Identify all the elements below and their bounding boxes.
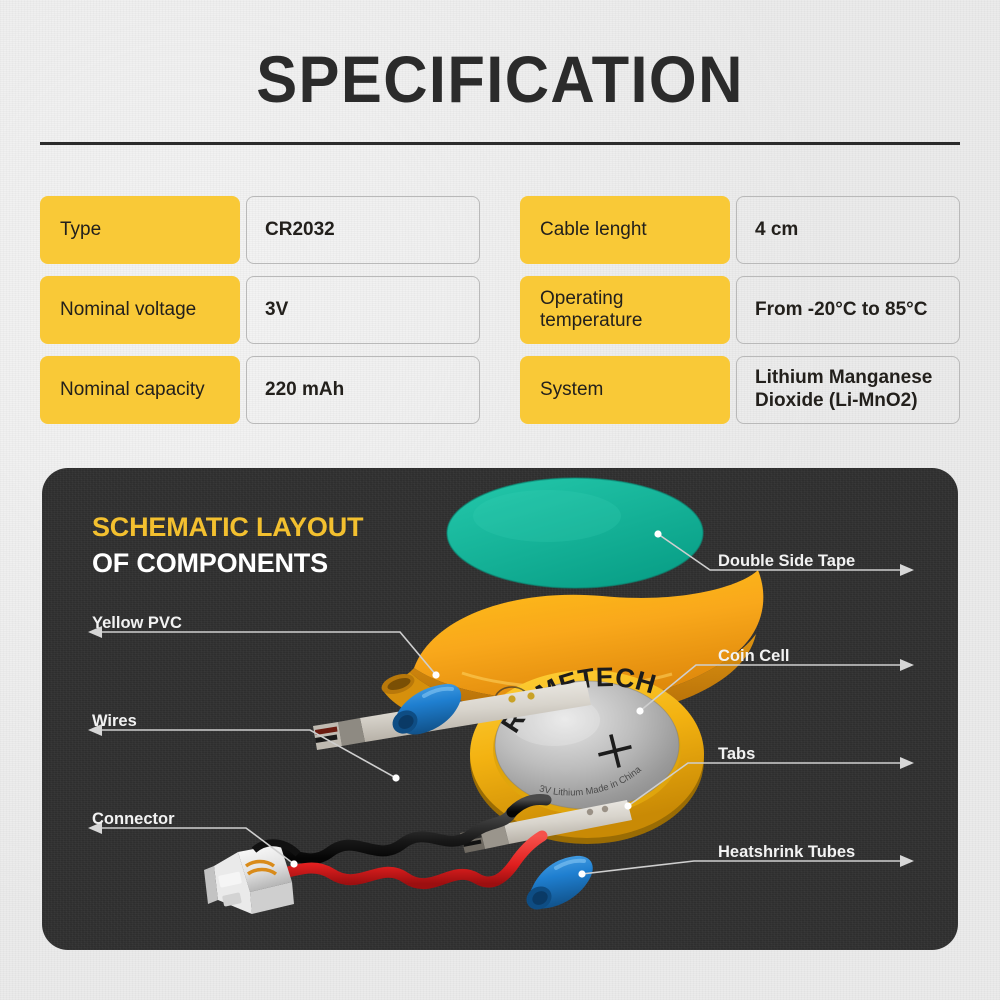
spec-label: Nominal capacity <box>40 356 240 424</box>
page-title: SPECIFICATION <box>35 46 965 112</box>
spec-label: Nominal voltage <box>40 276 240 344</box>
spec-value: 4 cm <box>736 196 960 264</box>
callout-label-connector: Connector <box>92 810 175 829</box>
spec-column-left: Type CR2032 Nominal voltage 3V Nominal c… <box>40 196 480 424</box>
heatshrink-tube-lower-part <box>522 856 592 914</box>
callout-label-double-side-tape: Double Side Tape <box>718 552 855 571</box>
spec-label: Cable lenght <box>520 196 730 264</box>
spec-row: System Lithium Manganese Dioxide (Li-MnO… <box>520 356 960 424</box>
title-divider <box>40 142 960 145</box>
spec-label: Type <box>40 196 240 264</box>
spec-value: CR2032 <box>246 196 480 264</box>
exploded-view-illustration: ROMETECH 3V Lithium Made in China Li <box>42 468 958 950</box>
spec-row: Nominal capacity 220 mAh <box>40 356 480 424</box>
spec-row: Nominal voltage 3V <box>40 276 480 344</box>
spec-column-right: Cable lenght 4 cm Operating temperature … <box>520 196 960 424</box>
spec-label: Operating temperature <box>520 276 730 344</box>
callout-label-wires: Wires <box>92 712 137 731</box>
spec-row: Cable lenght 4 cm <box>520 196 960 264</box>
double-side-tape-part <box>447 478 703 588</box>
spec-value: From -20°C to 85°C <box>736 276 960 344</box>
spec-value: Lithium Manganese Dioxide (Li-MnO2) <box>736 356 960 424</box>
spec-row: Operating temperature From -20°C to 85°C <box>520 276 960 344</box>
schematic-layout-panel: SCHEMATIC LAYOUT OF COMPONENTS <box>42 468 958 950</box>
callout-label-yellow-pvc: Yellow PVC <box>92 614 182 633</box>
callout-label-tabs: Tabs <box>718 745 755 764</box>
callout-label-heatshrink-tubes: Heatshrink Tubes <box>718 843 855 862</box>
specification-table: Type CR2032 Nominal voltage 3V Nominal c… <box>40 196 960 424</box>
spec-row: Type CR2032 <box>40 196 480 264</box>
callout-label-coin-cell: Coin Cell <box>718 647 790 666</box>
spec-value: 220 mAh <box>246 356 480 424</box>
spec-value: 3V <box>246 276 480 344</box>
spec-label: System <box>520 356 730 424</box>
